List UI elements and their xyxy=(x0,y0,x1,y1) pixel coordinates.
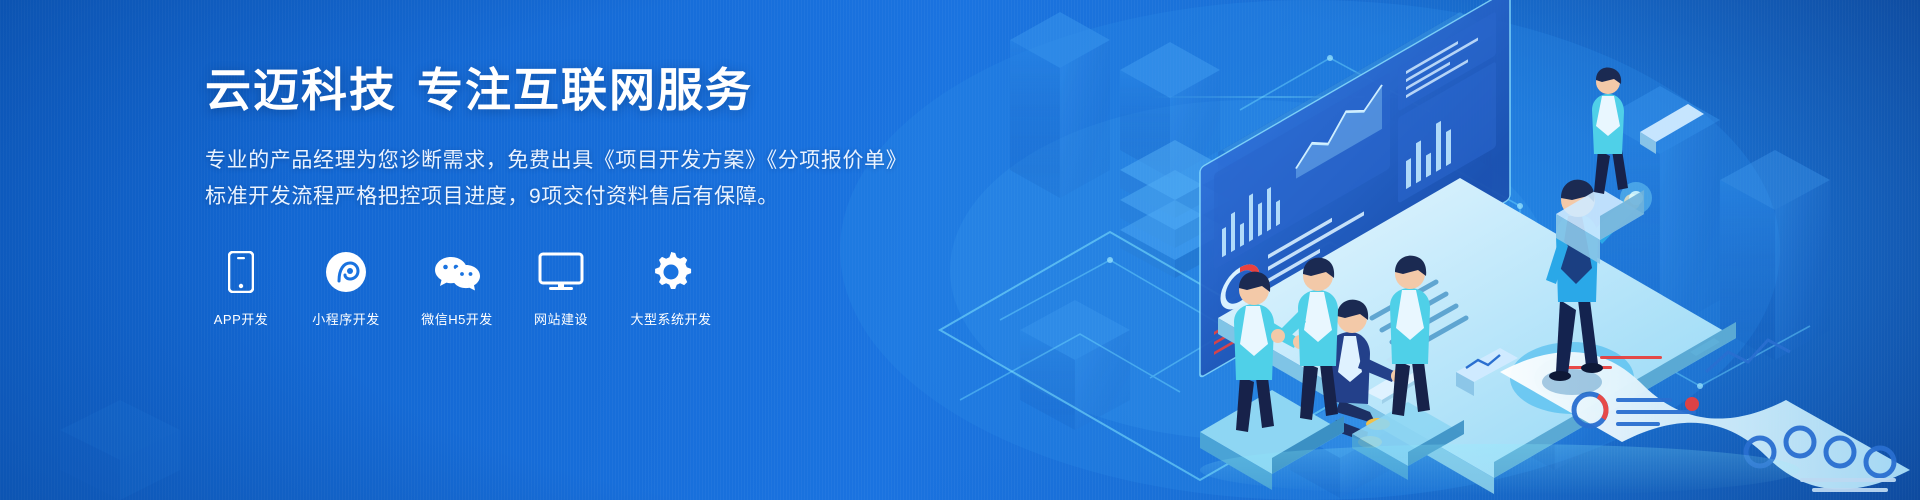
service-item-website[interactable]: 网站建设 xyxy=(525,248,597,328)
service-label: 大型系统开发 xyxy=(623,309,719,328)
isometric-data-dashboard-illustration xyxy=(900,0,1920,500)
page-title: 云迈科技专注互联网服务 xyxy=(205,64,905,117)
promo-banner: 云迈科技专注互联网服务 专业的产品经理为您诊断需求，免费出具《项目开发方案》《分… xyxy=(0,0,1920,500)
headline-tagline: 专注互联网服务 xyxy=(417,64,753,116)
service-item-large-system[interactable]: 大型系统开发 xyxy=(623,248,719,328)
subtitle-line-1: 专业的产品经理为您诊断需求，免费出具《项目开发方案》《分项报价单》 xyxy=(205,143,905,178)
wechat-icon xyxy=(415,248,499,296)
side-platform-person xyxy=(1556,0,1704,264)
banner-content: 云迈科技专注互联网服务 专业的产品经理为您诊断需求，免费出具《项目开发方案》《分… xyxy=(205,64,905,328)
monitor-icon xyxy=(525,248,597,296)
headline-brand: 云迈科技 xyxy=(205,64,397,116)
gear-icon xyxy=(623,248,719,296)
service-label: 网站建设 xyxy=(525,309,597,328)
service-list: APP开发 小程序开发 xyxy=(205,248,905,328)
mobile-phone-icon xyxy=(205,248,277,296)
service-label: 小程序开发 xyxy=(303,309,389,328)
service-label: 微信H5开发 xyxy=(415,309,499,328)
service-label: APP开发 xyxy=(205,309,277,328)
service-item-mini-program[interactable]: 小程序开发 xyxy=(303,248,389,328)
subtitle-line-2: 标准开发流程严格把控项目进度，9项交付资料售后有保障。 xyxy=(205,179,905,214)
service-item-app[interactable]: APP开发 xyxy=(205,248,277,328)
service-item-wechat-h5[interactable]: 微信H5开发 xyxy=(415,248,499,328)
mini-program-icon xyxy=(303,248,389,296)
